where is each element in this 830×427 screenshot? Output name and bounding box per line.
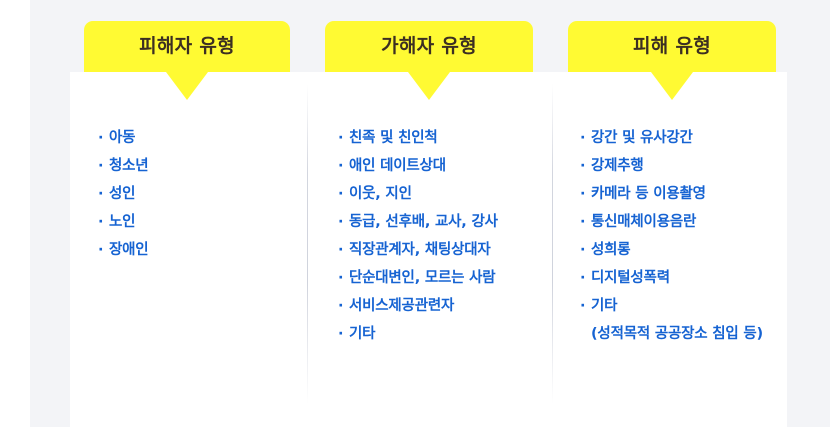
bullet-icon: · (98, 236, 109, 264)
list-item: ·강제추행 (580, 152, 780, 180)
list-item: ·애인 데이트상대 (338, 152, 538, 180)
list-item-label: 장애인 (109, 242, 148, 258)
bullet-icon: · (580, 152, 591, 180)
tab-pointer-icon (651, 72, 693, 100)
list-item-label: 친족 및 친인척 (349, 130, 438, 146)
bullet-icon: · (98, 180, 109, 208)
tab-victim-type-label: 피해자 유형 (84, 21, 290, 72)
bullet-icon: · (338, 320, 349, 348)
list-item-label: 아동 (109, 130, 135, 146)
bullet-icon: · (98, 152, 109, 180)
list-item: ·아동 (98, 124, 288, 152)
list-item: ·청소년 (98, 152, 288, 180)
list-item: ·이웃, 지인 (338, 180, 538, 208)
list-item-label: 애인 데이트상대 (349, 158, 446, 174)
list-item: ·(성적목적 공공장소 침입 등) (580, 320, 780, 348)
bullet-icon: · (580, 264, 591, 292)
tab-damage-type-label: 피해 유형 (568, 21, 776, 72)
bullet-icon: · (98, 208, 109, 236)
bullet-icon: · (338, 236, 349, 264)
list-item: ·기타 (338, 320, 538, 348)
tab-damage-type[interactable]: 피해 유형 (568, 21, 776, 72)
bullet-icon: · (338, 292, 349, 320)
list-item-label: 성인 (109, 186, 135, 202)
list-item: ·동급, 선후배, 교사, 강사 (338, 208, 538, 236)
list-item-label: 노인 (109, 214, 135, 230)
list-item: ·기타 (580, 292, 780, 320)
bullet-icon: · (580, 208, 591, 236)
column-divider-2 (552, 84, 553, 404)
tab-offender-type-label: 가해자 유형 (325, 21, 533, 72)
list-item-label: 강간 및 유사강간 (591, 130, 693, 146)
list-item-label: 통신매체이용음란 (591, 214, 696, 230)
tab-pointer-icon (408, 72, 450, 100)
list-item-label: 이웃, 지인 (349, 186, 412, 202)
list-item: ·디지털성폭력 (580, 264, 780, 292)
list-item-label: 성희롱 (591, 242, 630, 258)
infographic-root: 피해자 유형 가해자 유형 피해 유형 ·아동·청소년·성인·노인·장애인 ·친… (0, 0, 830, 427)
list-item: ·성인 (98, 180, 288, 208)
list-item-label: 직장관계자, 채팅상대자 (349, 242, 491, 258)
tab-offender-type[interactable]: 가해자 유형 (325, 21, 533, 72)
list-item: ·친족 및 친인척 (338, 124, 538, 152)
list-item-label: 강제추행 (591, 158, 644, 174)
list-item: ·단순대변인, 모르는 사람 (338, 264, 538, 292)
bullet-icon: · (338, 208, 349, 236)
list-item: ·카메라 등 이용촬영 (580, 180, 780, 208)
list-item: ·노인 (98, 208, 288, 236)
list-item: ·통신매체이용음란 (580, 208, 780, 236)
list-item-label: 단순대변인, 모르는 사람 (349, 270, 495, 286)
list-item: ·성희롱 (580, 236, 780, 264)
bullet-icon: · (98, 124, 109, 152)
victim-type-list: ·아동·청소년·성인·노인·장애인 (98, 124, 288, 264)
bullet-icon: · (580, 292, 591, 320)
list-item: ·직장관계자, 채팅상대자 (338, 236, 538, 264)
list-item: ·장애인 (98, 236, 288, 264)
list-item-label: 청소년 (109, 158, 148, 174)
column-victim-type: ·아동·청소년·성인·노인·장애인 (98, 124, 288, 264)
list-item-label: 기타 (349, 326, 375, 342)
list-item-label: 동급, 선후배, 교사, 강사 (349, 214, 498, 230)
list-item-label: 기타 (591, 298, 617, 314)
tab-pointer-icon (166, 72, 208, 100)
column-damage-type: ·강간 및 유사강간·강제추행·카메라 등 이용촬영·통신매체이용음란·성희롱·… (580, 124, 780, 348)
offender-type-list: ·친족 및 친인척·애인 데이트상대·이웃, 지인·동급, 선후배, 교사, 강… (338, 124, 538, 348)
list-item-label: 서비스제공관련자 (349, 298, 454, 314)
bullet-icon: · (580, 180, 591, 208)
list-item: ·서비스제공관련자 (338, 292, 538, 320)
bullet-icon: · (338, 124, 349, 152)
bullet-icon: · (338, 152, 349, 180)
bullet-icon: · (580, 236, 591, 264)
list-item: ·강간 및 유사강간 (580, 124, 780, 152)
column-offender-type: ·친족 및 친인척·애인 데이트상대·이웃, 지인·동급, 선후배, 교사, 강… (338, 124, 538, 348)
list-item-label: 카메라 등 이용촬영 (591, 186, 706, 202)
column-divider-1 (307, 84, 308, 404)
list-item-label: (성적목적 공공장소 침입 등) (591, 326, 763, 342)
bullet-icon: · (338, 264, 349, 292)
tab-victim-type[interactable]: 피해자 유형 (84, 21, 290, 72)
list-item-label: 디지털성폭력 (591, 270, 670, 286)
bullet-icon: · (580, 124, 591, 152)
bullet-icon: · (338, 180, 349, 208)
damage-type-list: ·강간 및 유사강간·강제추행·카메라 등 이용촬영·통신매체이용음란·성희롱·… (580, 124, 780, 348)
